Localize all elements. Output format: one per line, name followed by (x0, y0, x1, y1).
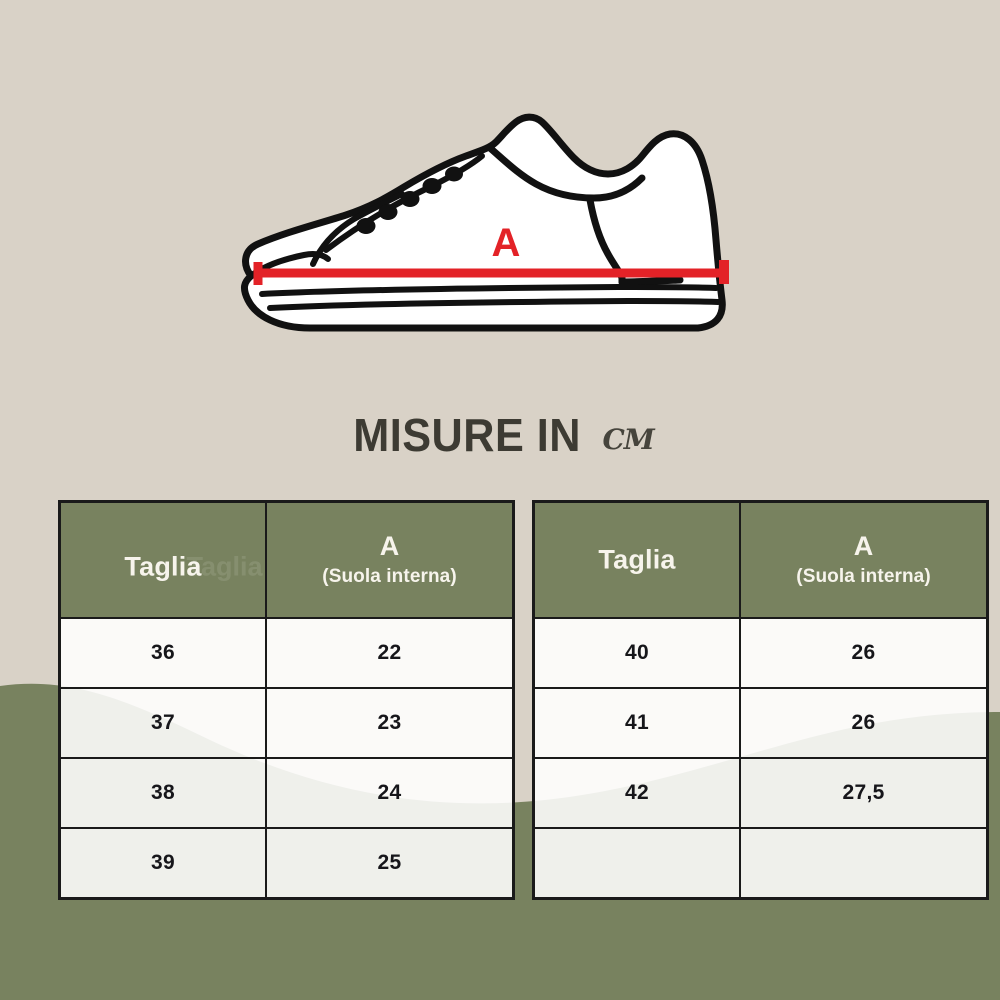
table-row: 39 25 (60, 828, 514, 899)
page-title: MISURE INcm (0, 408, 1000, 462)
cell-size: 41 (534, 688, 741, 758)
sneaker-illustration: A (218, 104, 770, 354)
cell-measure (740, 828, 987, 899)
table-row: 36 22 (60, 618, 514, 688)
cell-size: 42 (534, 758, 741, 828)
page-title-unit: cm (602, 412, 653, 459)
page-title-main: MISURE IN (354, 408, 582, 462)
header-measure-sub: (Suola interna) (745, 566, 982, 588)
cell-measure: 23 (266, 688, 513, 758)
cell-size: 38 (60, 758, 267, 828)
table-row: 42 27,5 (534, 758, 988, 828)
size-table-left: Taglia Taglia A (Suola interna) 36 22 37… (58, 500, 515, 900)
heel-counter-base (622, 280, 680, 282)
cell-measure: 24 (266, 758, 513, 828)
cell-size (534, 828, 741, 899)
header-size: Taglia (534, 502, 741, 619)
size-table-right: Taglia A (Suola interna) 40 26 41 26 42 … (532, 500, 989, 900)
header-measure: A (Suola interna) (740, 502, 987, 619)
table-header-row: Taglia Taglia A (Suola interna) (60, 502, 514, 619)
header-size: Taglia Taglia (60, 502, 267, 619)
cell-size: 36 (60, 618, 267, 688)
header-size-label: Taglia (65, 551, 261, 582)
size-chart-page: A MISURE INcm Taglia Taglia A (Suola int… (0, 0, 1000, 1000)
measure-label-a: A (492, 221, 521, 265)
table-row: 41 26 (534, 688, 988, 758)
cell-measure: 22 (266, 618, 513, 688)
cell-measure: 27,5 (740, 758, 987, 828)
cell-measure: 26 (740, 688, 987, 758)
table-row: 37 23 (60, 688, 514, 758)
table-row-empty (534, 828, 988, 899)
cell-measure: 25 (266, 828, 513, 899)
header-size-label: Taglia (539, 545, 735, 576)
header-measure-main: A (271, 532, 508, 560)
cell-measure: 26 (740, 618, 987, 688)
header-measure-main: A (745, 532, 982, 560)
cell-size: 37 (60, 688, 267, 758)
table-row: 40 26 (534, 618, 988, 688)
table-header-row: Taglia A (Suola interna) (534, 502, 988, 619)
header-measure: A (Suola interna) (266, 502, 513, 619)
shoe-body (244, 117, 722, 328)
cell-size: 39 (60, 828, 267, 899)
table-row: 38 24 (60, 758, 514, 828)
header-measure-sub: (Suola interna) (271, 566, 508, 588)
cell-size: 40 (534, 618, 741, 688)
